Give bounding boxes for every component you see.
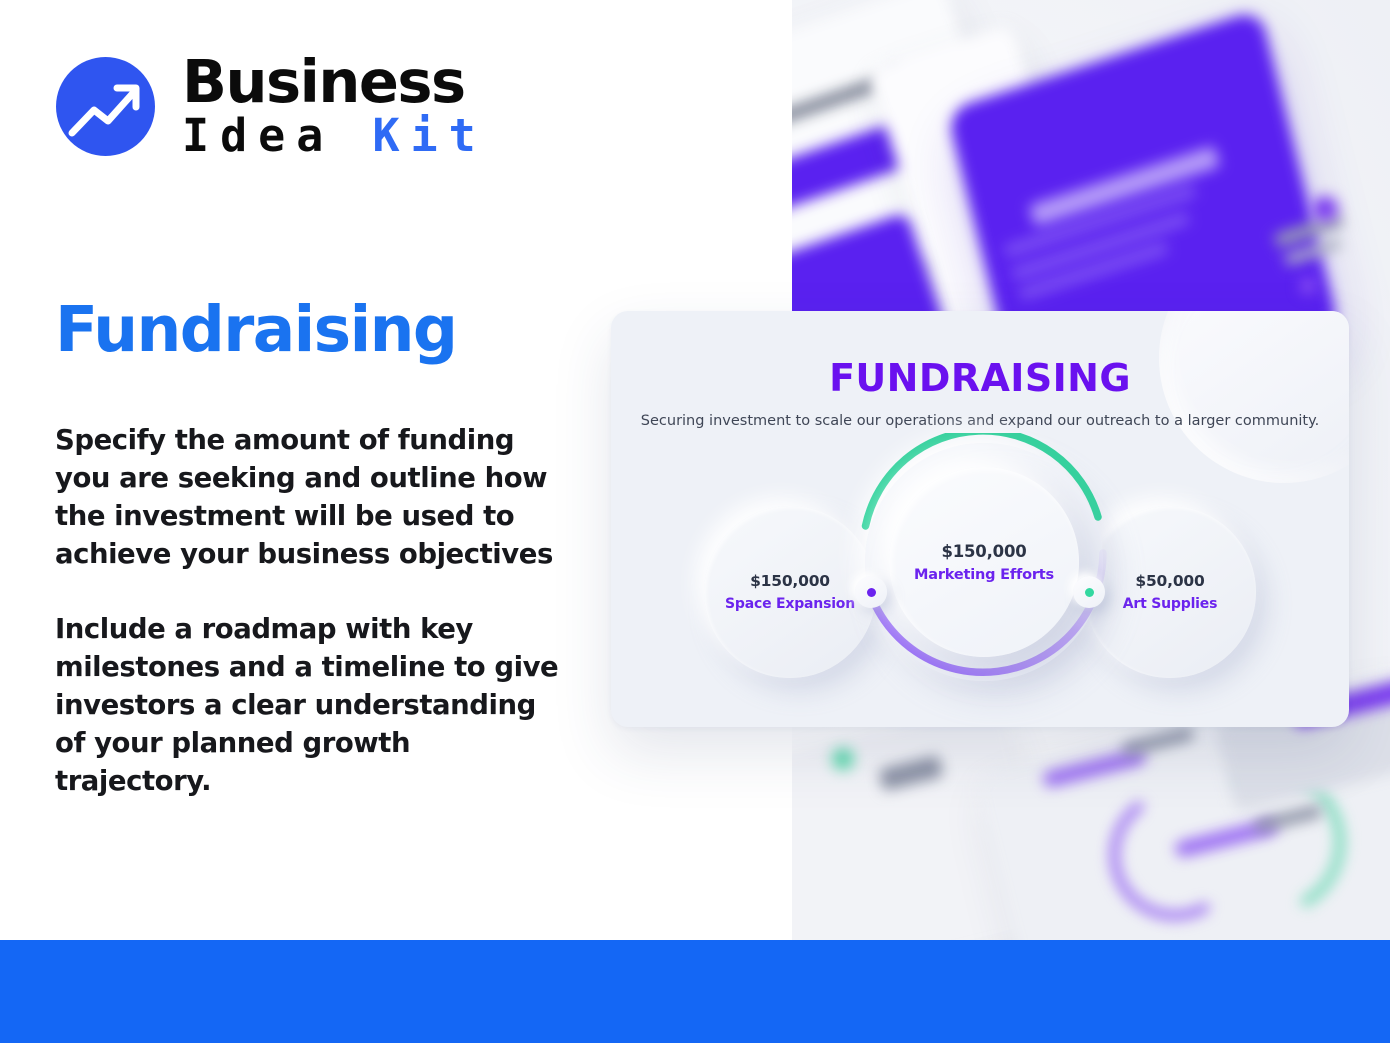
body-paragraph-2: Include a roadmap with key milestones an…: [55, 611, 565, 801]
slide-canvas: Business Idea Kit Fundraising Specify th…: [0, 0, 1390, 1043]
funding-breakdown-diagram: $150,000 Space Expansion $150,000 Market…: [611, 471, 1349, 721]
brand-logo[interactable]: Business Idea Kit: [56, 53, 487, 160]
preview-card-subtitle: Securing investment to scale our operati…: [611, 411, 1349, 432]
trend-arrow-up-icon: [56, 57, 155, 156]
brand-name-kit: Kit: [372, 109, 486, 162]
funding-amount: $150,000: [941, 542, 1026, 561]
bg-purple-dot-1: [1312, 196, 1338, 222]
brand-name-idea: Idea: [182, 109, 372, 162]
connector-node-left: [855, 576, 887, 608]
preview-card-title: FUNDRAISING: [611, 356, 1349, 400]
footer-bar: [0, 940, 1390, 1043]
page-title: Fundraising: [55, 297, 456, 363]
connector-dot-purple-icon: [867, 588, 876, 597]
brand-wordmark: Business Idea Kit: [182, 53, 487, 160]
funding-amount: $50,000: [1135, 572, 1204, 590]
connector-dot-green-icon: [1085, 588, 1094, 597]
funding-label: Space Expansion: [725, 596, 855, 612]
bg-green-dot-bottom: [832, 748, 854, 770]
bg-purple-dot-2: [1300, 278, 1316, 294]
connector-node-right: [1073, 576, 1105, 608]
fundraising-preview-card[interactable]: FUNDRAISING Securing investment to scale…: [611, 311, 1349, 727]
brand-name-line2: Idea Kit: [182, 112, 487, 160]
funding-label: Art Supplies: [1123, 596, 1217, 612]
funding-item-space-expansion[interactable]: $150,000 Space Expansion: [704, 506, 876, 678]
body-paragraph-1: Specify the amount of funding you are se…: [55, 422, 565, 574]
funding-label: Marketing Efforts: [914, 567, 1054, 583]
brand-name-line1: Business: [182, 53, 487, 111]
funding-amount: $150,000: [750, 572, 830, 590]
funding-item-marketing-efforts[interactable]: $150,000 Marketing Efforts: [889, 467, 1079, 657]
